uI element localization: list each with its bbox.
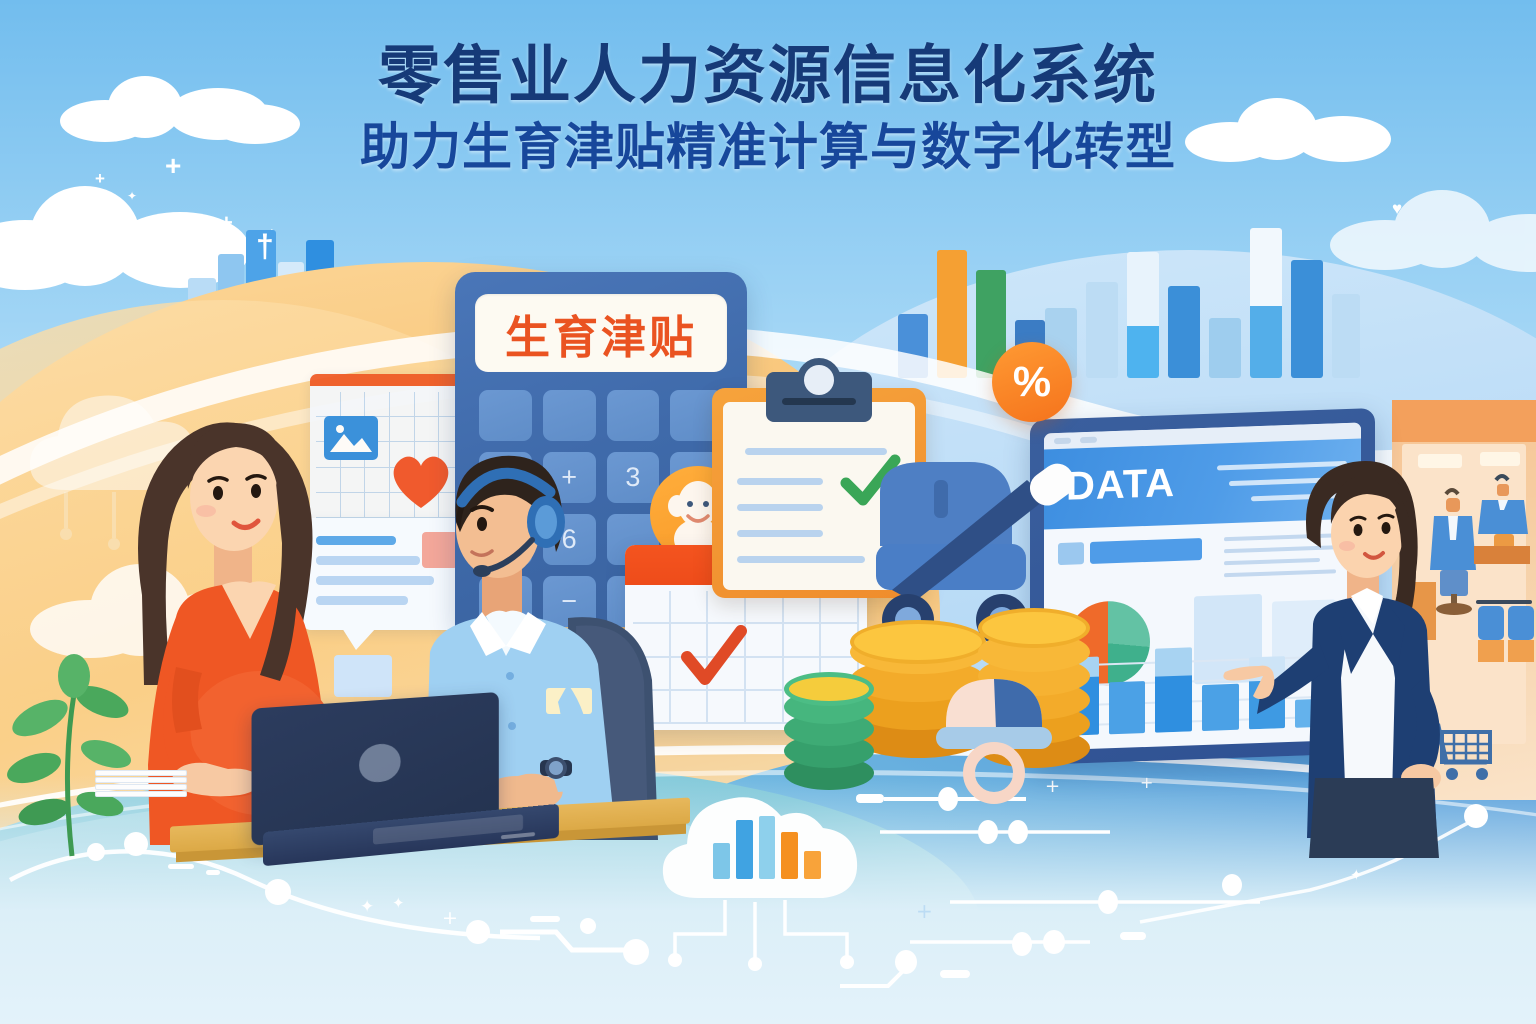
calculator-display-text: 生育津贴: [505, 301, 697, 366]
laptop-logo: [359, 743, 400, 785]
svg-text:+: +: [1140, 773, 1153, 792]
calc-key[interactable]: [607, 390, 660, 441]
svg-text:✦: ✦: [392, 894, 405, 912]
poster-canvas: + + ✦ + + + ♥ + + + + †: [0, 0, 1536, 1024]
browser-tab-indicator: [1080, 437, 1097, 444]
svg-text:✦: ✦: [360, 897, 374, 917]
display-table: [1474, 546, 1530, 564]
svg-text:✦: ✦: [1350, 866, 1363, 884]
svg-text:+: +: [442, 907, 458, 929]
clipboard-clamp: [766, 372, 872, 422]
svg-text:+: +: [916, 899, 933, 923]
calculator-display: 生育津贴: [475, 294, 727, 372]
dashboard-chip: [1090, 538, 1202, 564]
shelf-box: [1478, 640, 1504, 662]
hanging-shirt: [1508, 606, 1534, 640]
calc-key[interactable]: [543, 390, 596, 441]
mannequin: [1474, 472, 1534, 582]
baby-rattle-icon: [932, 665, 1056, 797]
shelf-box: [1508, 640, 1534, 662]
store-light: [1480, 452, 1520, 466]
cloud-bar-chart: [713, 813, 821, 879]
businesswoman-figure: [1255, 428, 1470, 858]
poster-title-sub: 助力生育津贴精准计算与数字化转型: [0, 120, 1536, 175]
paper-stack: [95, 770, 187, 802]
percent-badge: %: [992, 342, 1072, 422]
poster-title-block: 零售业人力资源信息化系统 助力生育津贴精准计算与数字化转型: [0, 42, 1536, 175]
dashboard-title: DATA: [1066, 461, 1175, 510]
coin-stack-icon: [784, 672, 874, 790]
clothing-rack: [1476, 600, 1532, 604]
browser-tab-indicator: [1054, 438, 1071, 445]
cloud-chart-widget: [655, 780, 865, 915]
laptop[interactable]: [243, 700, 543, 860]
percent-symbol: %: [1013, 358, 1051, 407]
poster-title-main: 零售业人力资源信息化系统: [0, 42, 1536, 110]
calc-key[interactable]: [479, 390, 532, 441]
hanging-shirt: [1478, 606, 1504, 640]
